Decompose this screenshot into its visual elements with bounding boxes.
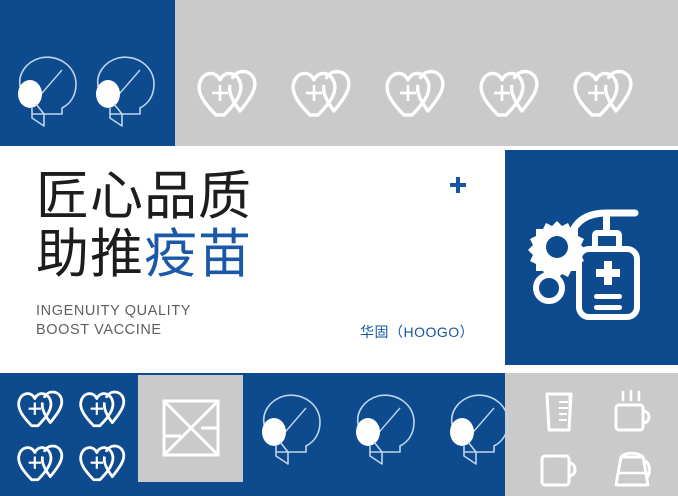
bottom-masked-heads-row: [258, 390, 514, 475]
masked-head-icon: [258, 390, 326, 475]
masked-head-icon: [352, 390, 420, 475]
measuring-beaker-icon: [524, 386, 594, 438]
double-heart-plus-icon: [286, 65, 358, 132]
double-heart-plus-icon: [568, 65, 640, 132]
subtitle: INGENUITY QUALITY BOOST VACCINE: [36, 302, 191, 340]
masked-head-icon: [14, 52, 82, 137]
double-heart-plus-icon: [12, 439, 70, 491]
double-heart-plus-icon: [74, 439, 132, 491]
brand-name: 华固（HOOGO）: [360, 322, 474, 342]
page-title: 匠心品质 助推疫苗: [36, 168, 336, 284]
subtitle-line-2: BOOST VACCINE: [36, 321, 191, 340]
masked-head-icon: [92, 52, 160, 137]
bottom-vessels-grid: [524, 386, 668, 496]
double-heart-plus-icon: [74, 385, 132, 437]
double-heart-plus-icon: [192, 65, 264, 132]
double-heart-plus-icon: [380, 65, 452, 132]
headline-line-2-plain: 助推: [36, 225, 144, 284]
subtitle-line-1: INGENUITY QUALITY: [36, 302, 191, 321]
mug-icon: [524, 444, 594, 496]
hand-sanitizer-bottle-icon: [527, 195, 659, 325]
double-heart-plus-icon: [474, 65, 546, 132]
broken-image-placeholder-icon: [161, 398, 221, 458]
masked-head-icon: [446, 390, 514, 475]
top-masked-heads-row: [14, 52, 160, 137]
bottom-hearts-grid: [12, 385, 132, 491]
headline-line-2-accent: 疫苗: [144, 225, 252, 284]
top-hearts-row: [192, 65, 640, 132]
headline-line-2: 助推疫苗: [36, 226, 336, 284]
poster-canvas: 匠心品质 助推疫苗 INGENUITY QUALITY BOOST VACCIN…: [0, 0, 678, 496]
double-heart-plus-icon: [12, 385, 70, 437]
teapot-carafe-icon: [598, 444, 668, 496]
plus-icon: [449, 176, 467, 194]
steaming-cup-icon: [598, 386, 668, 438]
headline-line-1: 匠心品质: [36, 168, 336, 226]
